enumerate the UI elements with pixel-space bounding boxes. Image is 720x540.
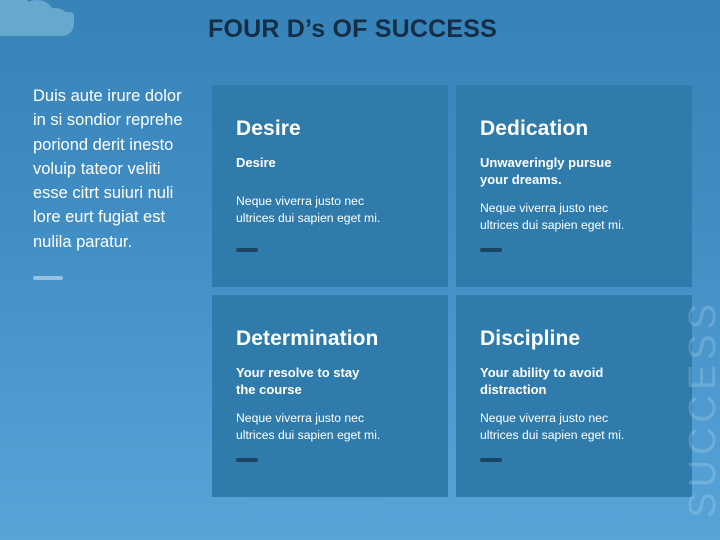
cloud-decoration-icon bbox=[0, 0, 74, 36]
intro-panel: Duis aute irure dolor in si sondior repr… bbox=[33, 84, 198, 280]
cloud-base bbox=[0, 12, 74, 36]
card-discipline[interactable]: Discipline Your ability to avoid distrac… bbox=[456, 295, 692, 497]
card-subtitle: Your ability to avoid distraction bbox=[480, 364, 668, 398]
card-body: Neque viverra justo nec ultrices dui sap… bbox=[480, 410, 668, 443]
card-title: Desire bbox=[236, 117, 424, 140]
card-subtitle: Unwaveringly pursue your dreams. bbox=[480, 154, 668, 188]
card-body: Neque viverra justo nec ultrices dui sap… bbox=[480, 200, 668, 233]
card-body: Neque viverra justo nec ultrices dui sap… bbox=[236, 193, 424, 226]
card-subtitle: Desire bbox=[236, 154, 424, 171]
card-divider bbox=[236, 458, 258, 462]
cards-grid: Desire Desire Neque viverra justo nec ul… bbox=[212, 85, 692, 503]
card-title: Discipline bbox=[480, 327, 668, 350]
card-divider bbox=[236, 248, 258, 252]
intro-paragraph: Duis aute irure dolor in si sondior repr… bbox=[33, 84, 198, 254]
card-desire[interactable]: Desire Desire Neque viverra justo nec ul… bbox=[212, 85, 448, 287]
cloud-puff-middle bbox=[20, 0, 54, 30]
watermark-text: SUCCESS bbox=[684, 299, 720, 518]
card-dedication[interactable]: Dedication Unwaveringly pursue your drea… bbox=[456, 85, 692, 287]
card-title: Determination bbox=[236, 327, 424, 350]
card-body: Neque viverra justo nec ultrices dui sap… bbox=[236, 410, 424, 443]
card-divider bbox=[480, 458, 502, 462]
page-title: FOUR D’s OF SUCCESS bbox=[208, 15, 497, 44]
card-subtitle: Your resolve to stay the course bbox=[236, 364, 424, 398]
card-divider bbox=[480, 248, 502, 252]
intro-divider bbox=[33, 276, 63, 280]
card-title: Dedication bbox=[480, 117, 668, 140]
cloud-puff-right bbox=[40, 8, 70, 34]
cloud-puff-left bbox=[0, 0, 30, 24]
card-determination[interactable]: Determination Your resolve to stay the c… bbox=[212, 295, 448, 497]
slide-canvas: FOUR D’s OF SUCCESS Duis aute irure dolo… bbox=[0, 0, 720, 540]
